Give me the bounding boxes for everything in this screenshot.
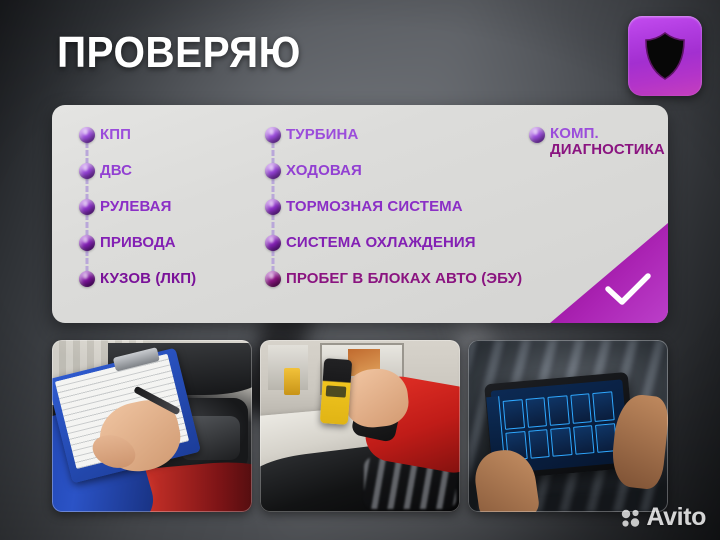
bullet-dot-icon [79,271,95,287]
list-item[interactable]: КУЗОВ (ЛКП) [74,269,244,305]
bullet-dot-icon [79,127,95,143]
list-item-label: КПП [100,125,131,143]
shield-badge [628,16,702,96]
list-item-label: ТУРБИНА [286,125,358,143]
list-item-label: ДВС [100,161,132,179]
bullet-dot-icon [265,271,281,287]
list-item-label: ПРИВОДА [100,233,176,251]
bullet-wrap [74,197,100,215]
connector-dash [272,142,275,164]
connector-dash [86,178,89,200]
check-icon [605,273,651,307]
checklist-card: КПП ДВС РУЛЕВАЯ [52,105,668,323]
connector-dash [86,250,89,272]
photo-2-content [260,340,460,512]
bullet-dot-icon [265,127,281,143]
bullet-wrap [74,161,100,179]
bullet-dot-icon [265,163,281,179]
list-item-label: ПРОБЕГ В БЛОКАХ АВТО (ЭБУ) [286,269,522,287]
list-item[interactable]: ХОДОВАЯ [260,161,522,197]
list-item-label: КОМП. [550,125,599,142]
bullet-dot-icon [79,163,95,179]
bullet-dot-icon [529,127,545,143]
list-item[interactable]: РУЛЕВАЯ [74,197,244,233]
bullet-wrap [74,233,100,251]
list-item-label: ХОДОВАЯ [286,161,362,179]
photo-paint-thickness-gauge[interactable] [260,340,460,512]
list-item[interactable]: ПРОБЕГ В БЛОКАХ АВТО (ЭБУ) [260,269,522,305]
bullet-wrap [524,125,550,143]
avito-logo-icon [621,508,641,528]
bullet-wrap [260,233,286,251]
connector-dash [272,214,275,236]
checklist-column-1: КПП ДВС РУЛЕВАЯ [74,125,244,305]
checklist-column-2: ТУРБИНА ХОДОВАЯ ТОРМОЗНАЯ СИСТЕМА [260,125,522,305]
bullet-wrap [74,269,100,287]
list-item[interactable]: ПРИВОДА [74,233,244,269]
list-item-label: ТОРМОЗНАЯ СИСТЕМА [286,197,463,215]
list-item[interactable]: ТУРБИНА [260,125,522,161]
list-item-label: СИСТЕМА ОХЛАЖДЕНИЯ [286,233,476,251]
list-item[interactable]: КОМП. ДИАГНОСТИКА [524,125,668,173]
checklist-columns: КПП ДВС РУЛЕВАЯ [52,105,668,323]
bullet-dot-icon [265,199,281,215]
list-item-label: КУЗОВ (ЛКП) [100,269,196,287]
avito-watermark: Avito [621,503,706,532]
photo-3-content [468,340,668,512]
list-item-label: РУЛЕВАЯ [100,197,172,215]
avito-wordmark: Avito [646,503,706,532]
bullet-wrap [260,197,286,215]
shield-icon [643,31,687,81]
list-item[interactable]: СИСТЕМА ОХЛАЖДЕНИЯ [260,233,522,269]
list-item-label-group: КОМП. ДИАГНОСТИКА [550,125,665,158]
bullet-dot-icon [265,235,281,251]
photo-tablet-diagnostics[interactable] [468,340,668,512]
bullet-wrap [260,161,286,179]
list-item[interactable]: ДВС [74,161,244,197]
connector-dash [272,250,275,272]
photo-strip [52,340,668,512]
connector-dash [86,214,89,236]
connector-dash [272,178,275,200]
bullet-wrap [74,125,100,143]
list-item[interactable]: ТОРМОЗНАЯ СИСТЕМА [260,197,522,233]
photo-1-content [52,340,252,512]
bullet-wrap [260,269,286,287]
bullet-wrap [260,125,286,143]
bullet-dot-icon [79,235,95,251]
page-title: ПРОВЕРЯЮ [57,30,301,76]
checklist-column-3: КОМП. ДИАГНОСТИКА [524,125,668,173]
list-item[interactable]: КПП [74,125,244,161]
connector-dash [86,142,89,164]
list-item-label-second: ДИАГНОСТИКА [550,141,665,158]
photo-inspection-clipboard[interactable] [52,340,252,512]
bullet-dot-icon [79,199,95,215]
